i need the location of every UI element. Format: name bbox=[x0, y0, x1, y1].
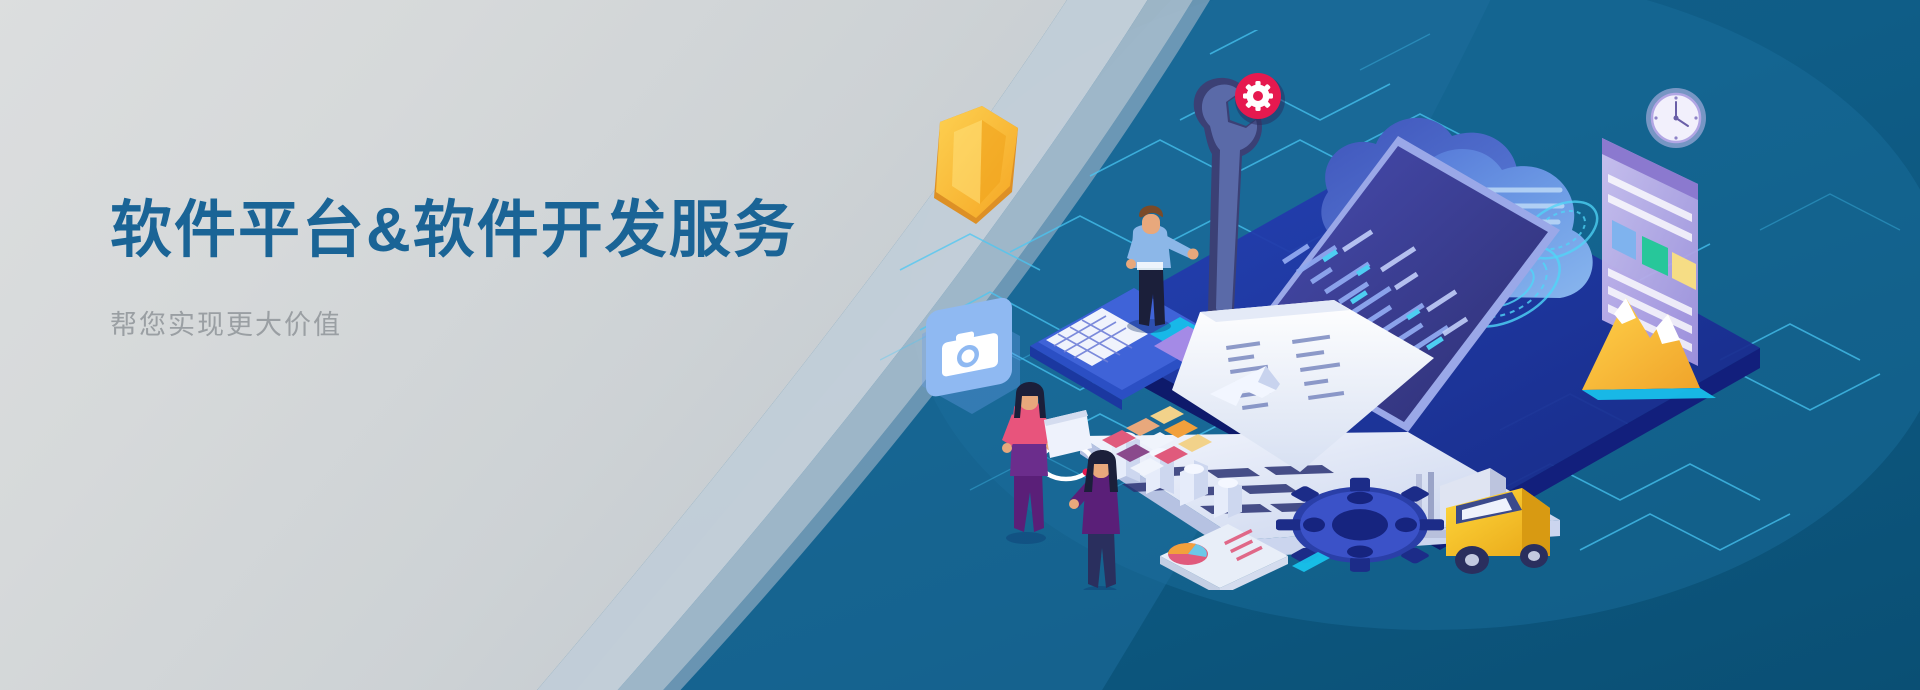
shield-icon bbox=[934, 106, 1018, 224]
page-title: 软件平台&软件开发服务 bbox=[110, 195, 930, 266]
hero-banner: 软件平台&软件开发服务 帮您实现更大价值 bbox=[0, 0, 1920, 690]
banner-text-block: 软件平台&软件开发服务 帮您实现更大价值 bbox=[110, 195, 930, 343]
hero-illustration bbox=[880, 30, 1920, 590]
analyst-person bbox=[1002, 382, 1092, 544]
page-subtitle: 帮您实现更大价值 bbox=[110, 308, 930, 343]
illustration-svg bbox=[880, 30, 1920, 590]
camera-icon bbox=[922, 296, 1020, 414]
clock-icon bbox=[1646, 88, 1706, 148]
magnifier-person bbox=[1069, 450, 1120, 590]
gear-large-icon bbox=[1276, 478, 1444, 572]
